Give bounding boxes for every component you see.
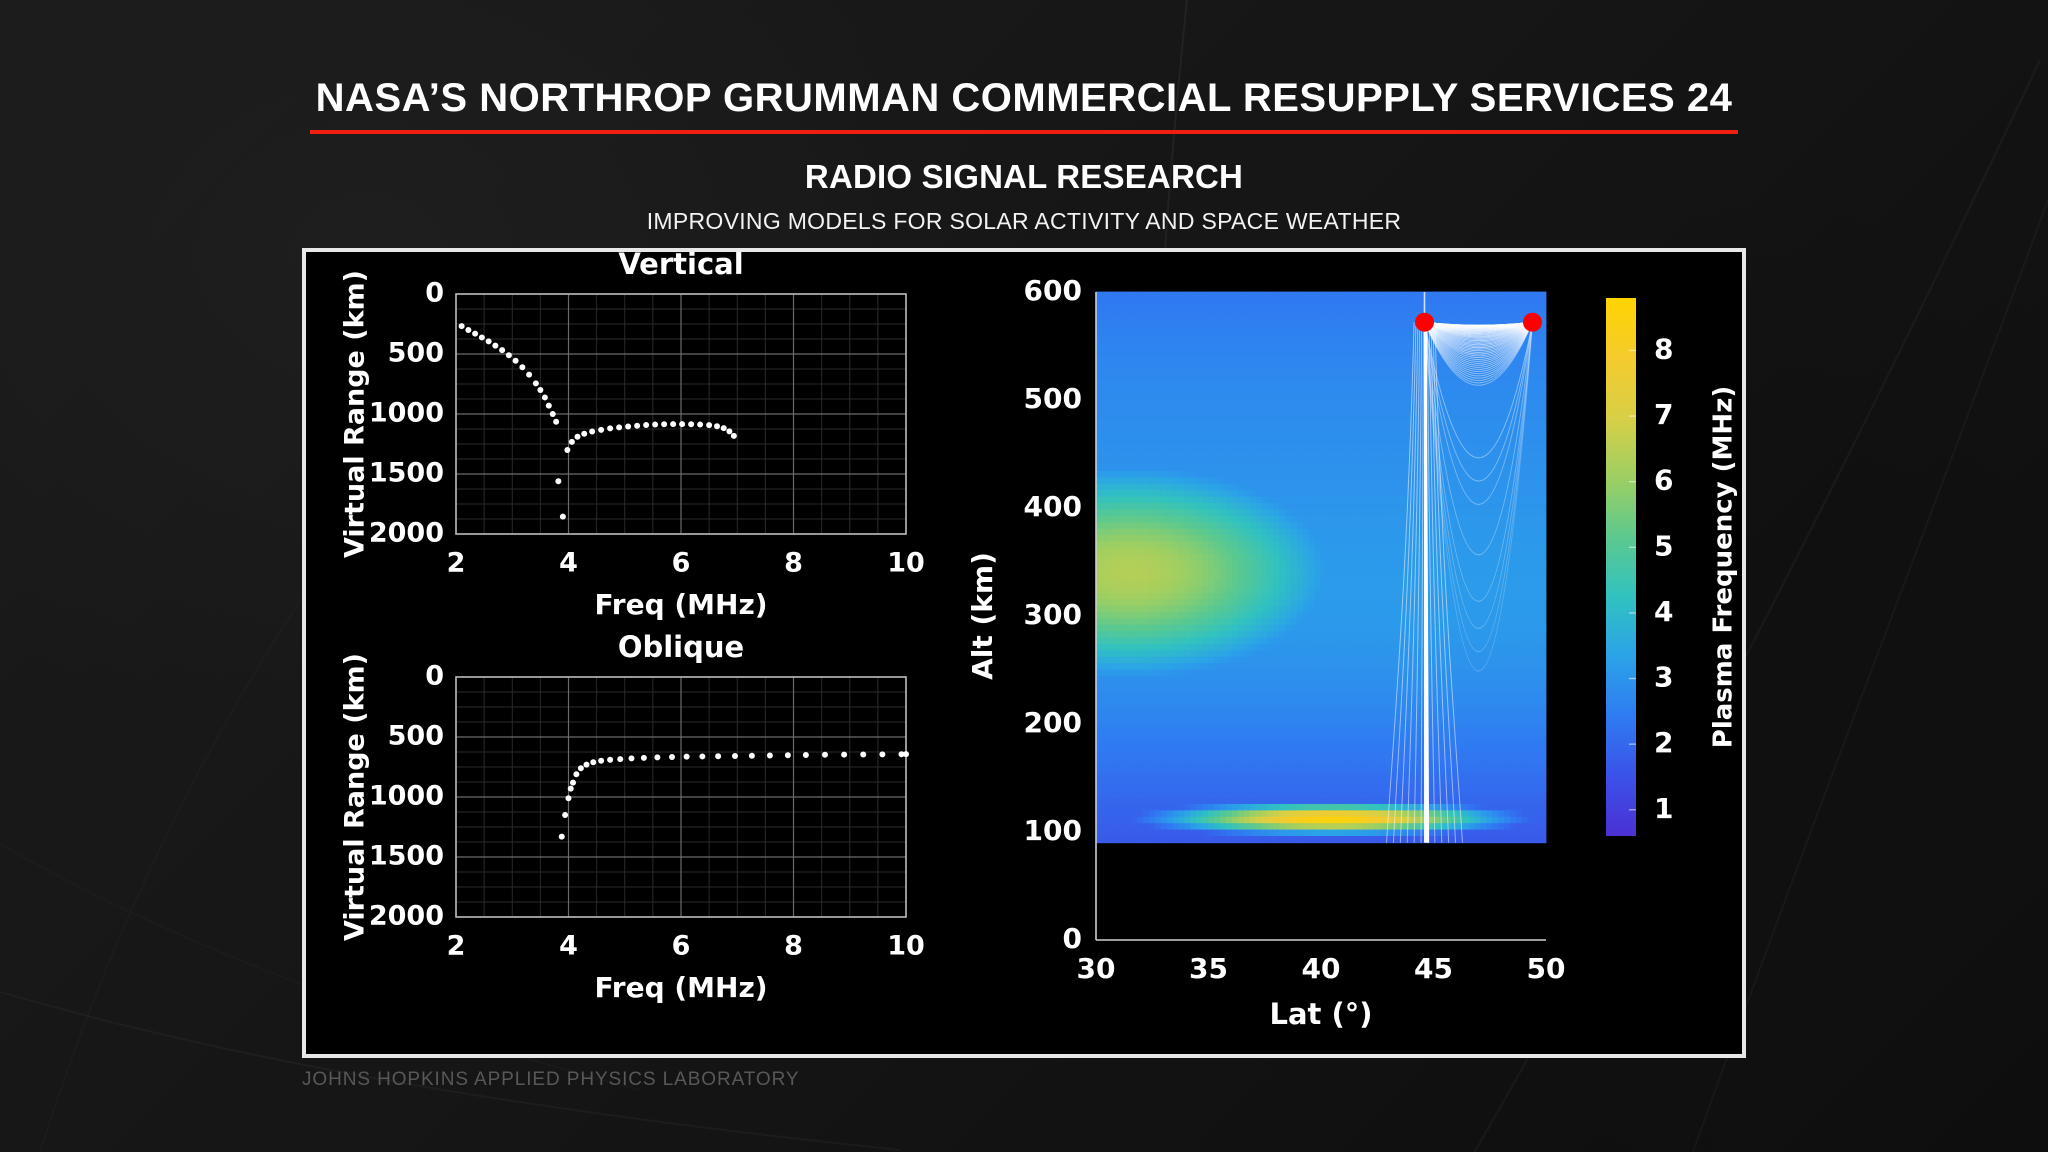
heatmap-xtick-label: 45	[1414, 952, 1453, 985]
heatmap-ytick-label: 300	[1024, 598, 1082, 631]
xtick-label: 4	[559, 931, 578, 962]
heatmap-ytick-label: 100	[1024, 814, 1082, 847]
plasma-frequency-field	[1096, 292, 1547, 844]
xtick-label: 6	[672, 548, 691, 579]
marker-transmitter	[1415, 313, 1434, 332]
y-axis-label: Virtual Range (km)	[340, 270, 371, 558]
heatmap-y-axis-label: Alt (km)	[966, 552, 999, 680]
slide-root: NASA’S NORTHROP GRUMMAN COMMERCIAL RESUP…	[0, 0, 2048, 1152]
figure-svg: 2468100500100015002000Freq (MHz)Virtual …	[306, 252, 1742, 1054]
colorbar-tick-label: 8	[1654, 332, 1673, 365]
ytick-label: 500	[388, 338, 444, 369]
colorbar-tick-label: 1	[1654, 792, 1673, 825]
xtick-label: 8	[784, 931, 803, 962]
ytick-label: 1500	[369, 458, 444, 489]
xtick-label: 6	[672, 931, 691, 962]
ytick-label: 1000	[369, 781, 444, 812]
heatmap-xtick-label: 40	[1302, 952, 1341, 985]
xtick-label: 10	[887, 548, 925, 579]
main-title-block: NASA’S NORTHROP GRUMMAN COMMERCIAL RESUP…	[0, 78, 2048, 134]
heatmap-x-axis-label: Lat (°)	[1269, 997, 1372, 1031]
heatmap-ytick-label: 500	[1024, 382, 1082, 415]
ytick-label: 0	[425, 278, 444, 309]
heatmap-xtick-label: 35	[1189, 952, 1228, 985]
colorbar	[1606, 298, 1636, 836]
page-title: NASA’S NORTHROP GRUMMAN COMMERCIAL RESUP…	[310, 78, 1739, 126]
colorbar-tick-label: 3	[1654, 661, 1673, 694]
heatmap-ytick-label: 200	[1024, 706, 1082, 739]
chart-title: Oblique	[618, 630, 744, 664]
heatmap-ytick-label: 600	[1024, 274, 1082, 307]
chart-title: Vertical	[618, 252, 743, 281]
xtick-label: 2	[447, 931, 466, 962]
xtick-label: 2	[447, 548, 466, 579]
colorbar-tick-label: 4	[1654, 595, 1673, 628]
colorbar-tick-label: 5	[1654, 529, 1673, 562]
footer-credit: JOHNS HOPKINS APPLIED PHYSICS LABORATORY	[302, 1069, 799, 1091]
colorbar-label: Plasma Frequency (MHz)	[1709, 386, 1739, 748]
ytick-label: 2000	[369, 518, 444, 549]
slide-header: NASA’S NORTHROP GRUMMAN COMMERCIAL RESUP…	[0, 0, 2048, 235]
heatmap-xtick-label: 50	[1527, 952, 1566, 985]
ytick-label: 0	[425, 661, 444, 692]
heatmap-ytick-label: 400	[1024, 490, 1082, 523]
title-accent-rule	[310, 130, 1739, 134]
ytick-label: 1500	[369, 841, 444, 872]
heatmap-ytick-label: 0	[1063, 922, 1082, 955]
marker-receiver	[1523, 313, 1542, 332]
x-axis-label: Freq (MHz)	[594, 971, 767, 1004]
figure-panel: 2468100500100015002000Freq (MHz)Virtual …	[302, 248, 1746, 1058]
ytick-label: 500	[388, 721, 444, 752]
y-axis-label: Virtual Range (km)	[340, 653, 371, 941]
colorbar-tick-label: 6	[1654, 464, 1673, 497]
xtick-label: 8	[784, 548, 803, 579]
colorbar-tick-label: 7	[1654, 398, 1673, 431]
x-axis-label: Freq (MHz)	[594, 588, 767, 621]
colorbar-tick-label: 2	[1654, 726, 1673, 759]
ytick-label: 2000	[369, 901, 444, 932]
ytick-label: 1000	[369, 398, 444, 429]
xtick-label: 10	[887, 931, 925, 962]
xtick-label: 4	[559, 548, 578, 579]
heatmap-xtick-label: 30	[1077, 952, 1116, 985]
section-subtitle: IMPROVING MODELS FOR SOLAR ACTIVITY AND …	[0, 208, 2048, 235]
section-title: RADIO SIGNAL RESEARCH	[0, 158, 2048, 196]
